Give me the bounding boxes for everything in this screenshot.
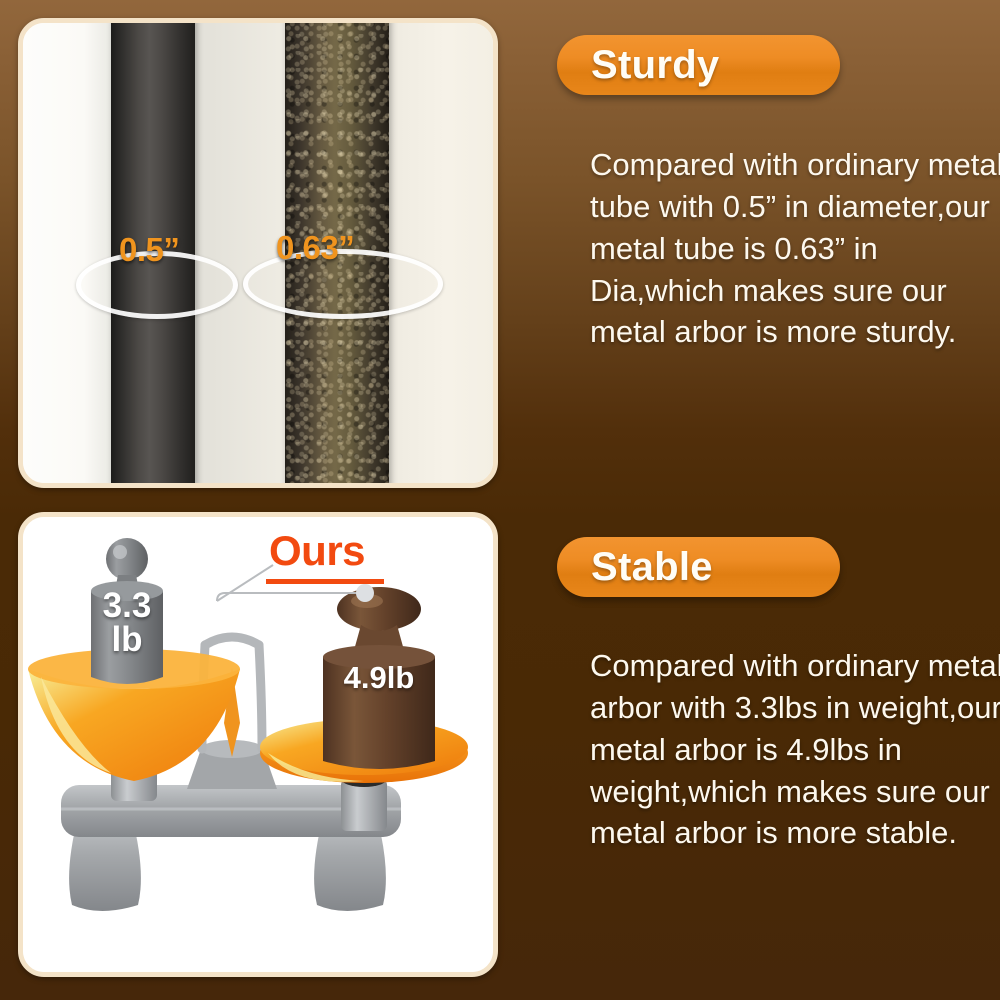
ordinary-weight-label: 3.3 lb [89, 589, 165, 658]
infographic-page: 0.5” 0.63” [0, 0, 1000, 1000]
balance-scale-graphic [23, 517, 483, 962]
ours-callout-label: Ours [269, 527, 365, 575]
tube-photo: 0.5” 0.63” [23, 23, 493, 483]
ours-callout-underline [266, 579, 384, 584]
our-weight-label: 4.9lb [323, 663, 435, 693]
feature-description-sturdy: Compared with ordinary metal tube with 0… [590, 144, 1000, 353]
feature-badge-stable-label: Stable [557, 545, 713, 590]
tube-comparison-photo-card: 0.5” 0.63” [18, 18, 498, 488]
feature-description-stable: Compared with ordinary metal arbor with … [590, 645, 1000, 854]
ordinary-tube-diameter-label: 0.5” [119, 231, 179, 269]
our-tube-diameter-label: 0.63” [276, 229, 354, 267]
feature-badge-sturdy: Sturdy [557, 35, 840, 95]
weight-comparison-illustration-card: Ours 3.3 lb 4.9lb [18, 512, 498, 977]
feature-badge-sturdy-label: Sturdy [557, 43, 719, 88]
feature-badge-stable: Stable [557, 537, 840, 597]
balance-scale-illustration: Ours 3.3 lb 4.9lb [23, 517, 493, 972]
